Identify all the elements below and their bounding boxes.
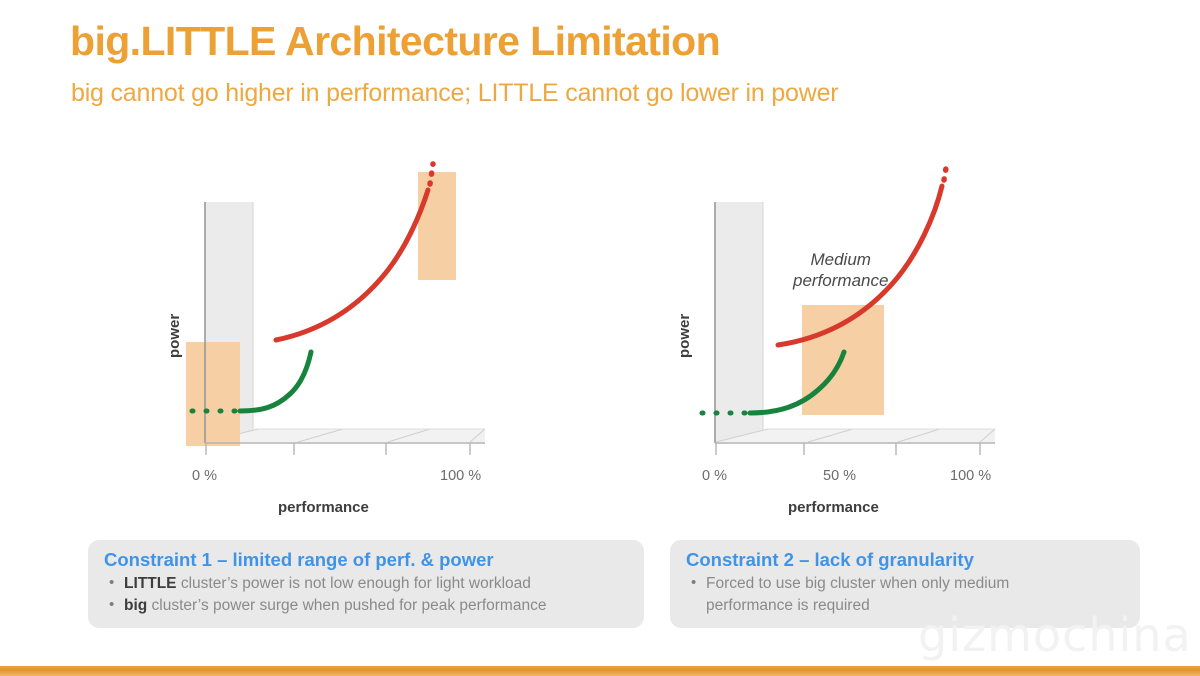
bullet-bold-term: LITTLE xyxy=(124,575,177,592)
bottom-accent-bar xyxy=(0,666,1200,676)
slide-canvas: big.LITTLE Architecture Limitation big c… xyxy=(0,0,1200,676)
constraint-2-heading: Constraint 2 – lack of granularity xyxy=(670,540,1140,573)
highlight-big-power-surge xyxy=(418,172,456,280)
annotation-line-2: performance xyxy=(793,271,888,292)
page-title: big.LITTLE Architecture Limitation xyxy=(70,18,720,65)
chart-left-limited-range: power 0 % 100 % performance xyxy=(140,160,570,530)
gizmochina-watermark: gizmochina xyxy=(918,608,1192,662)
bullet-text: cluster’s power is not low enough for li… xyxy=(177,575,531,592)
curve-big-red-dotted xyxy=(944,162,947,180)
back-wall xyxy=(715,202,763,442)
chart-right-x-axis-label: performance xyxy=(788,499,879,516)
list-item: LITTLE cluster’s power is not low enough… xyxy=(122,573,634,595)
chart-left-xtick-0: 0 % xyxy=(192,468,217,484)
annotation-medium-performance: Medium performance xyxy=(793,250,888,291)
chart-right-y-axis-label: power xyxy=(676,314,693,358)
constraint-1-box: Constraint 1 – limited range of perf. & … xyxy=(88,540,644,628)
annotation-line-1: Medium xyxy=(793,250,888,271)
bullet-bold-term: big xyxy=(124,597,147,614)
page-subtitle: big cannot go higher in performance; LIT… xyxy=(71,79,838,108)
chart-right-xtick-0: 0 % xyxy=(702,468,727,484)
constraint-1-heading: Constraint 1 – limited range of perf. & … xyxy=(88,540,644,573)
curve-big-red xyxy=(276,190,428,340)
chart-left-xtick-100: 100 % xyxy=(440,468,481,484)
chart-left-y-axis-label: power xyxy=(166,314,183,358)
chart-right-xtick-100: 100 % xyxy=(950,468,991,484)
bullet-text: cluster’s power surge when pushed for pe… xyxy=(147,597,546,614)
chart-right-xtick-50: 50 % xyxy=(823,468,856,484)
chart-left-x-axis-label: performance xyxy=(278,499,369,516)
chart-right-granularity: power Medium performance 0 % 50 % 100 % … xyxy=(650,160,1080,530)
constraint-1-list: LITTLE cluster’s power is not low enough… xyxy=(88,573,644,617)
highlight-little-power-floor xyxy=(186,342,240,446)
list-item: big cluster’s power surge when pushed fo… xyxy=(122,595,634,617)
